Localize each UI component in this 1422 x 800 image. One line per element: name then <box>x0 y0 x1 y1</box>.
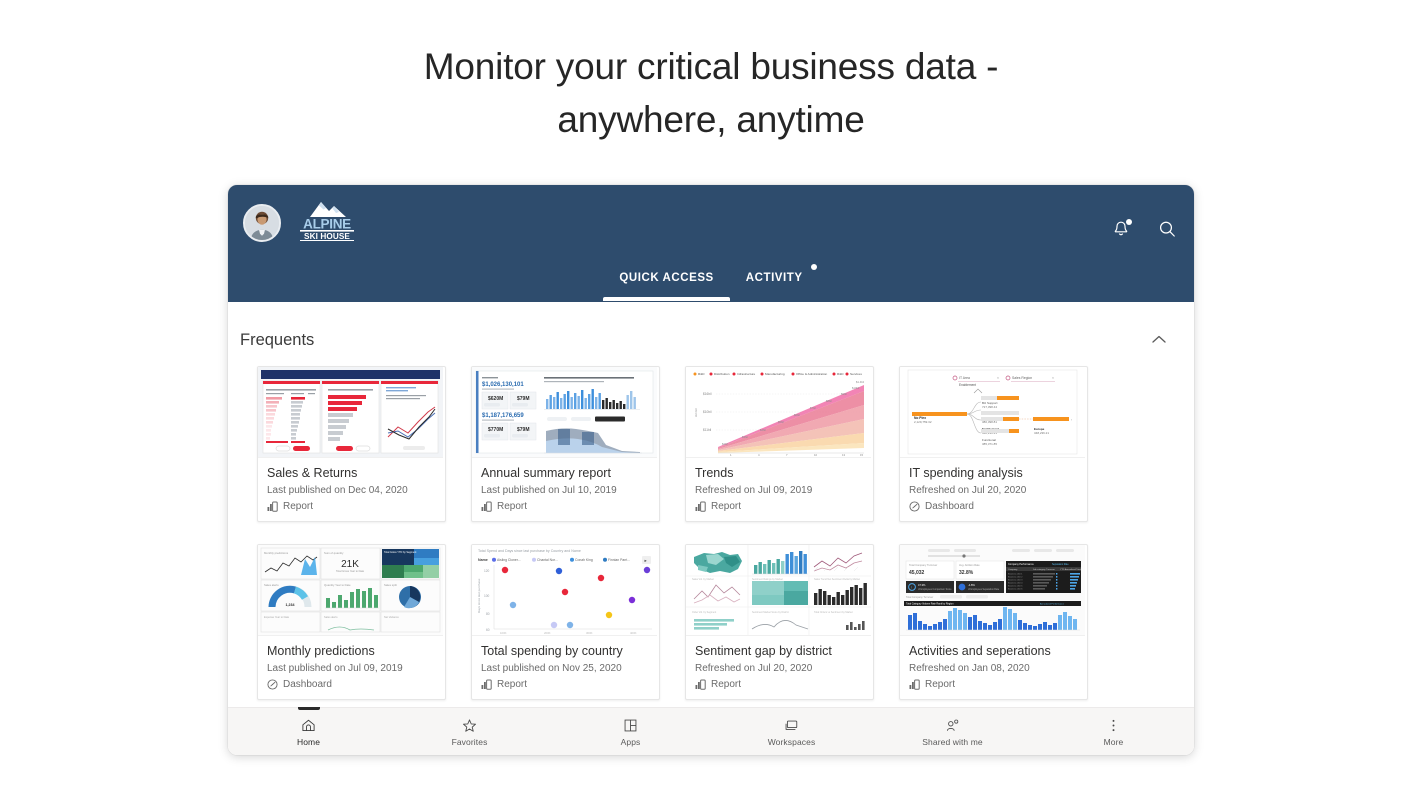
card-title: Monthly predictions <box>267 644 436 659</box>
svg-text:727,398.44: 727,398.44 <box>982 405 997 409</box>
report-icon <box>481 501 492 512</box>
svg-text:×: × <box>997 376 999 380</box>
svg-text:$770M: $770M <box>488 427 503 433</box>
nav-item-favorites[interactable]: Favorites <box>389 716 550 747</box>
svg-text:Total Gross YTD by Segment: Total Gross YTD by Segment <box>384 551 417 554</box>
notifications-icon[interactable] <box>1111 219 1131 239</box>
thumbnail-annual-summary: $1,026,130,101 $620M $79M $1,187,176,659 <box>472 367 657 458</box>
card-row: Monthly predictions Sum of quantity 21K … <box>257 544 1194 700</box>
more-dots-glyph <box>1105 717 1122 734</box>
thumb-graphic: Total Spend and Days since last purchase… <box>472 545 657 635</box>
svg-text:Name: Name <box>478 558 488 562</box>
svg-text:-4.8%: -4.8% <box>968 583 975 587</box>
activity-badge-dot <box>811 264 817 270</box>
thumbnail-sales-returns <box>258 367 443 458</box>
thumbnail-activities-separations: Total Company Turnover 45,032 Avg. Attri… <box>900 545 1085 636</box>
star-icon <box>460 716 480 734</box>
card-subtitle: Refreshed on Jul 09, 2019 <box>695 484 864 497</box>
svg-text:80: 80 <box>486 612 490 616</box>
card-sentiment-gap-by-district[interactable]: Sales Vol. by MarketSentiment Ratings by… <box>685 544 874 700</box>
svg-text:$79M: $79M <box>517 427 530 433</box>
svg-text:Business Unit 4: Business Unit 4 <box>1008 581 1023 584</box>
card-type-label: Report <box>497 501 527 512</box>
card-title: Sales & Returns <box>267 466 436 481</box>
nav-item-more[interactable]: More <box>1033 716 1194 747</box>
svg-text:Quantity Year to Date: Quantity Year to Date <box>324 583 351 587</box>
svg-text:Distribution: Distribution <box>714 372 730 376</box>
nav-active-indicator <box>298 707 320 710</box>
svg-text:Sales split: Sales split <box>384 583 397 587</box>
svg-text:Business Unit 5: Business Unit 5 <box>1008 584 1023 587</box>
svg-text:$11bil: $11bil <box>703 428 712 432</box>
card-annual-summary-report[interactable]: $1,026,130,101 $620M $79M $1,187,176,659 <box>471 366 660 522</box>
svg-text:Sales Vol. by Market: Sales Vol. by Market <box>692 578 714 581</box>
card-type-label: Report <box>925 679 955 690</box>
nav-label: Workspaces <box>768 737 816 747</box>
svg-text:$4bil: $4bil <box>760 428 766 432</box>
dashboard-icon <box>909 501 920 512</box>
svg-text:Business Unit 1: Business Unit 1 <box>1008 572 1023 575</box>
alpine-ski-house-logo: ALPINE SKI HOUSE <box>288 197 366 241</box>
brand-logo: ALPINE SKI HOUSE <box>288 197 366 241</box>
app-window: ALPINE SKI HOUSE <box>228 185 1194 755</box>
card-title: Trends <box>695 466 864 481</box>
content-area: Frequents <box>228 302 1194 755</box>
svg-text:×: × <box>1052 376 1054 380</box>
svg-text:Avg. Attrition Rate: Avg. Attrition Rate <box>959 563 980 567</box>
report-icon <box>267 501 278 512</box>
svg-text:13: 13 <box>842 453 846 457</box>
search-icon[interactable] <box>1157 219 1177 239</box>
svg-text:R&D: R&D <box>698 372 705 376</box>
nav-label: Favorites <box>452 737 488 747</box>
dashboard-icon <box>267 679 278 690</box>
page-headline: Monitor your critical business data - an… <box>0 40 1422 146</box>
nav-label: Shared with me <box>922 737 982 747</box>
card-subtitle: Refreshed on Jan 08, 2020 <box>909 662 1078 675</box>
card-type: Dashboard <box>267 679 436 690</box>
card-subtitle: Last published on Nov 25, 2020 <box>481 662 650 675</box>
svg-text:Sales Region: Sales Region <box>1012 376 1032 380</box>
card-total-spending-by-country[interactable]: Total Spend and Days since last purchase… <box>471 544 660 700</box>
svg-text:SKI HOUSE: SKI HOUSE <box>304 232 350 241</box>
card-title: Activities and seperations <box>909 644 1078 659</box>
card-activities-and-seperations[interactable]: Total Company Turnover 45,032 Avg. Attri… <box>899 544 1088 700</box>
svg-text:Services: Services <box>850 372 862 376</box>
svg-text:IT Area: IT Area <box>959 376 970 380</box>
more-dots-icon <box>1104 716 1124 734</box>
tab-activity[interactable]: ACTIVITY <box>730 268 819 301</box>
svg-text:348,236.21: 348,236.21 <box>1034 431 1049 435</box>
nav-label: Home <box>297 737 320 747</box>
svg-text:$8bil: $8bil <box>826 399 832 403</box>
card-type: Report <box>481 679 650 690</box>
report-icon <box>909 679 920 690</box>
svg-text:15: 15 <box>860 453 864 457</box>
svg-text:$3bil: $3bil <box>742 435 748 439</box>
thumb-graphic: IT Area × Sales Region × Enablement No P… <box>900 367 1085 457</box>
svg-text:YTD Annualized Total: YTD Annualized Total <box>1060 568 1081 571</box>
thumb-graphic: R&D Distribution Infrastructure Manufact… <box>686 367 871 457</box>
tab-quick-access-label: QUICK ACCESS <box>619 268 713 288</box>
home-icon <box>299 716 319 734</box>
nav-item-apps[interactable]: Apps <box>550 716 711 747</box>
home-glyph <box>300 717 317 734</box>
card-type: Report <box>267 501 436 512</box>
svg-text:Company: Company <box>1008 569 1018 571</box>
svg-text:385,371.85: 385,371.85 <box>982 442 997 446</box>
chevron-up-glyph <box>1148 329 1170 351</box>
svg-text:120: 120 <box>484 569 490 573</box>
star-glyph <box>461 717 478 734</box>
card-type: Dashboard <box>909 501 1078 512</box>
headline-line-2: anywhere, anytime <box>0 93 1422 146</box>
svg-text:1,234: 1,234 <box>286 603 295 607</box>
apps-grid-glyph <box>622 717 639 734</box>
svg-text:$620M: $620M <box>488 396 503 402</box>
svg-text:Total Company Turnover: Total Company Turnover <box>906 596 933 599</box>
card-type: Report <box>695 501 864 512</box>
tab-quick-access[interactable]: QUICK ACCESS <box>603 268 729 301</box>
thumbnail-monthly-predictions: Monthly predictions Sum of quantity 21K … <box>258 545 443 636</box>
svg-text:Finnian Parri...: Finnian Parri... <box>608 558 630 562</box>
card-type-label: Report <box>497 679 527 690</box>
svg-text:Business Unit 6: Business Unit 6 <box>1008 587 1023 590</box>
svg-text:Monthly predictions: Monthly predictions <box>264 551 289 555</box>
svg-text:$9bil: $9bil <box>841 392 847 396</box>
svg-text:Office & Administration: Office & Administration <box>796 372 828 376</box>
svg-text:47.3%: 47.3% <box>918 583 926 587</box>
card-subtitle: Last published on Jul 09, 2019 <box>267 662 436 675</box>
card-type-label: Report <box>283 501 313 512</box>
svg-text:R&D: R&D <box>837 372 844 376</box>
svg-text:$7bil: $7bil <box>810 406 816 410</box>
card-type-label: Report <box>711 679 741 690</box>
card-type: Report <box>695 679 864 690</box>
nav-label: Apps <box>621 737 641 747</box>
svg-text:21K: 21K <box>341 559 359 570</box>
thumb-graphic: Total Company Turnover 45,032 Avg. Attri… <box>900 545 1085 635</box>
svg-text:Separation Rate: Separation Rate <box>1052 563 1069 566</box>
svg-text:Infrastructure: Infrastructure <box>737 372 756 376</box>
card-title: IT spending analysis <box>909 466 1078 481</box>
magnifier-glyph <box>1157 219 1177 239</box>
svg-text:Days since last purchase: Days since last purchase <box>477 578 481 613</box>
svg-text:of Employees Separation Rate: of Employees Separation Rate <box>968 588 1000 591</box>
card-type-label: Dashboard <box>925 501 974 512</box>
svg-text:Sentiment Market Score by Dist: Sentiment Market Score by District <box>752 611 789 614</box>
svg-text:of Employees Comparison Score: of Employees Comparison Score <box>918 588 952 591</box>
headline-line-1: Monitor your critical business data - <box>0 40 1422 93</box>
svg-text:$16bil: $16bil <box>703 392 712 396</box>
svg-text:200K: 200K <box>544 631 551 635</box>
card-monthly-predictions[interactable]: Monthly predictions Sum of quantity 21K … <box>257 544 446 700</box>
card-row: Sales & Returns Last published on Dec 04… <box>257 366 1194 522</box>
avatar[interactable] <box>243 204 281 242</box>
card-subtitle: Last published on Dec 04, 2020 <box>267 484 436 497</box>
thumb-graphic: $1,026,130,101 $620M $79M $1,187,176,659 <box>472 367 657 457</box>
svg-text:Job category Turnover: Job category Turnover <box>1033 568 1055 571</box>
thumbnail-total-spending: Total Spend and Days since last purchase… <box>472 545 657 636</box>
apps-grid-icon <box>621 716 641 734</box>
chevron-up-icon[interactable] <box>1148 329 1170 351</box>
svg-text:100K: 100K <box>500 631 507 635</box>
card-body: Activities and seperations Refreshed on … <box>900 636 1087 699</box>
svg-text:Sum of quantity: Sum of quantity <box>324 551 344 555</box>
workspaces-glyph <box>783 717 800 734</box>
svg-text:Enablement: Enablement <box>959 383 976 387</box>
card-body: Sales & Returns Last published on Dec 04… <box>258 458 445 521</box>
workspaces-icon <box>782 716 802 734</box>
card-type: Report <box>481 501 650 512</box>
svg-text:Chantal Nor...: Chantal Nor... <box>537 558 558 562</box>
report-icon <box>481 679 492 690</box>
svg-text:Sales Trend Net Sentiment Delt: Sales Trend Net Sentiment Delta by Marke… <box>814 578 860 581</box>
avatar-image <box>245 206 279 240</box>
card-body: IT spending analysis Refreshed on Jul 20… <box>900 458 1087 521</box>
thumb-graphic: Sales Vol. by MarketSentiment Ratings by… <box>686 545 871 635</box>
shared-with-me-icon <box>943 716 963 734</box>
card-body: Trends Refreshed on Jul 09, 2019 Report <box>686 458 873 521</box>
report-icon <box>695 679 706 690</box>
svg-text:32.8%: 32.8% <box>959 570 974 576</box>
header-icon-group <box>1111 219 1177 239</box>
svg-text:$6bil: $6bil <box>794 413 800 417</box>
svg-text:Company Performance: Company Performance <box>1008 563 1034 566</box>
card-type-label: Dashboard <box>283 679 332 690</box>
thumb-graphic: Monthly predictions Sum of quantity 21K … <box>258 545 443 635</box>
svg-text:$1,026,130,101: $1,026,130,101 <box>482 382 524 388</box>
card-trends[interactable]: R&D Distribution Infrastructure Manufact… <box>685 366 874 522</box>
card-subtitle: Refreshed on Jul 20, 2020 <box>909 484 1078 497</box>
svg-text:300K: 300K <box>586 631 593 635</box>
report-icon <box>695 501 706 512</box>
card-subtitle: Last published on Jul 10, 2019 <box>481 484 650 497</box>
card-body: Total spending by country Last published… <box>472 636 659 699</box>
card-body: Monthly predictions Last published on Ju… <box>258 636 445 699</box>
svg-text:$1,187,176,659: $1,187,176,659 <box>482 413 524 419</box>
svg-text:100: 100 <box>484 594 490 598</box>
svg-text:Total Spend and Days since las: Total Spend and Days since last purchase… <box>478 549 581 553</box>
nav-label: More <box>1104 737 1124 747</box>
card-type-label: Report <box>711 501 741 512</box>
card-title: Sentiment gap by district <box>695 644 864 659</box>
card-body: Sentiment gap by district Refreshed on J… <box>686 636 873 699</box>
section-title: Frequents <box>240 331 314 350</box>
svg-text:45,032: 45,032 <box>909 570 925 576</box>
svg-text:ALPINE: ALPINE <box>303 217 351 232</box>
svg-text:Net Variance: Net Variance <box>384 615 399 619</box>
app-header: ALPINE SKI HOUSE <box>228 185 1194 302</box>
tab-activity-label: ACTIVITY <box>746 268 803 288</box>
card-title: Total spending by country <box>481 644 650 659</box>
svg-text:Sentiment Ratings by Market: Sentiment Ratings by Market <box>752 578 783 581</box>
svg-text:Business Unit 2: Business Unit 2 <box>1008 575 1023 578</box>
thumb-graphic <box>258 367 443 457</box>
svg-text:400K: 400K <box>630 631 637 635</box>
svg-text:10: 10 <box>814 453 818 457</box>
thumbnail-trends: R&D Distribution Infrastructure Manufact… <box>686 367 871 458</box>
svg-text:Act bil: Act bil <box>694 408 698 417</box>
svg-text:60: 60 <box>486 628 490 632</box>
svg-text:Sales alerts: Sales alerts <box>264 583 279 587</box>
bottom-navigation: Home Favorites Apps <box>228 707 1194 755</box>
svg-text:Conah King: Conah King <box>575 558 593 562</box>
svg-text:$2bil: $2bil <box>722 442 728 446</box>
svg-text:Order Vol. by Segment: Order Vol. by Segment <box>692 611 717 614</box>
shared-person-glyph <box>944 717 961 734</box>
svg-text:Aisling Cloner...: Aisling Cloner... <box>497 558 521 562</box>
svg-text:$10bil: $10bil <box>852 386 860 390</box>
card-body: Annual summary report Last published on … <box>472 458 659 521</box>
svg-text:Total Category Volume Rate Ran: Total Category Volume Rate Rank by Regio… <box>906 603 954 606</box>
svg-text:Annualized Performance: Annualized Performance <box>1040 603 1065 606</box>
svg-text:$10bil: $10bil <box>703 410 712 414</box>
card-sales-returns[interactable]: Sales & Returns Last published on Dec 04… <box>257 366 446 522</box>
frequents-grid: Sales & Returns Last published on Dec 04… <box>257 366 1194 755</box>
svg-text:$5bil: $5bil <box>778 420 784 424</box>
svg-text:2,129,759.32: 2,129,759.32 <box>914 420 932 424</box>
svg-text:Business Unit 3: Business Unit 3 <box>1008 578 1023 581</box>
svg-text:$1.4bil: $1.4bil <box>856 380 864 384</box>
frequents-section-header: Frequents <box>240 326 1182 354</box>
header-tabs: QUICK ACCESS ACTIVITY <box>228 268 1194 302</box>
svg-text:Total Gross Year to Date: Total Gross Year to Date <box>336 569 365 573</box>
svg-text:›: › <box>1071 418 1072 422</box>
card-subtitle: Refreshed on Jul 20, 2020 <box>695 662 864 675</box>
thumbnail-sentiment-gap: Sales Vol. by MarketSentiment Ratings by… <box>686 545 871 636</box>
nav-item-shared-with-me[interactable]: Shared with me <box>872 716 1033 747</box>
svg-text:Manufacturing: Manufacturing <box>765 372 785 376</box>
thumbnail-it-spending: IT Area × Sales Region × Enablement No P… <box>900 367 1085 458</box>
nav-item-workspaces[interactable]: Workspaces <box>711 716 872 747</box>
nav-item-home[interactable]: Home <box>228 716 389 747</box>
card-title: Annual summary report <box>481 466 650 481</box>
svg-text:Total Orders vs Sentiment by M: Total Orders vs Sentiment by Market <box>814 611 853 614</box>
svg-text:Sales alerts: Sales alerts <box>324 615 338 619</box>
notification-badge <box>1126 219 1132 225</box>
card-type: Report <box>909 679 1078 690</box>
svg-text:Expense Year to Date: Expense Year to Date <box>264 615 290 619</box>
card-it-spending-analysis[interactable]: IT Area × Sales Region × Enablement No P… <box>899 366 1088 522</box>
svg-text:Total Company Turnover: Total Company Turnover <box>909 563 937 567</box>
svg-text:$79M: $79M <box>517 396 530 402</box>
